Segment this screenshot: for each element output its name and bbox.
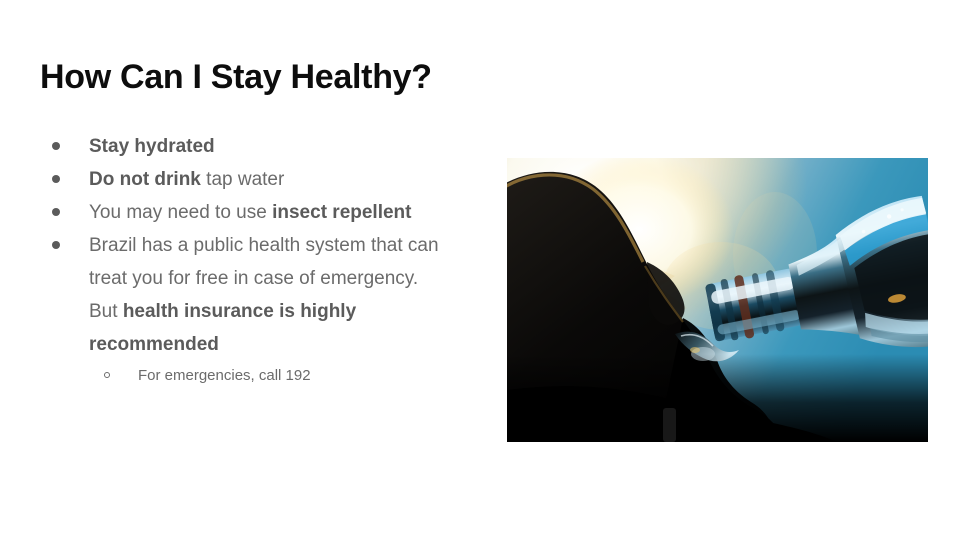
- sub-bullet-text: For emergencies, call 192: [138, 367, 311, 384]
- list-item: Do not drink tap water: [40, 163, 450, 196]
- bullet-text-regular: You may need to use: [89, 202, 272, 223]
- body-content: Stay hydrated Do not drink tap water You…: [40, 130, 450, 389]
- bullet-text-bold: Do not drink: [89, 169, 201, 190]
- bullet-marker-icon: [52, 142, 60, 150]
- person-drinking-water-bottle-photo: [507, 158, 928, 442]
- bullet-text-regular: tap water: [201, 169, 284, 190]
- bullet-marker-icon: [52, 208, 60, 216]
- bullet-list: Stay hydrated Do not drink tap water You…: [40, 130, 450, 389]
- bullet-text-bold: insect repellent: [272, 202, 411, 223]
- slide: How Can I Stay Healthy? Stay hydrated Do…: [0, 0, 960, 540]
- list-item: Brazil has a public health system that c…: [40, 229, 450, 389]
- page-title: How Can I Stay Healthy?: [40, 56, 432, 98]
- bullet-marker-icon: [52, 241, 60, 249]
- sub-bullet-marker-icon: [104, 372, 110, 378]
- bullet-marker-icon: [52, 175, 60, 183]
- list-item: Stay hydrated: [40, 130, 450, 163]
- bullet-text-bold: health insurance is highly recommended: [89, 301, 356, 355]
- bullet-text-bold: Stay hydrated: [89, 136, 215, 157]
- sub-bullet-list: For emergencies, call 192: [89, 363, 450, 389]
- list-item: You may need to use insect repellent: [40, 196, 450, 229]
- list-item: For emergencies, call 192: [89, 363, 450, 389]
